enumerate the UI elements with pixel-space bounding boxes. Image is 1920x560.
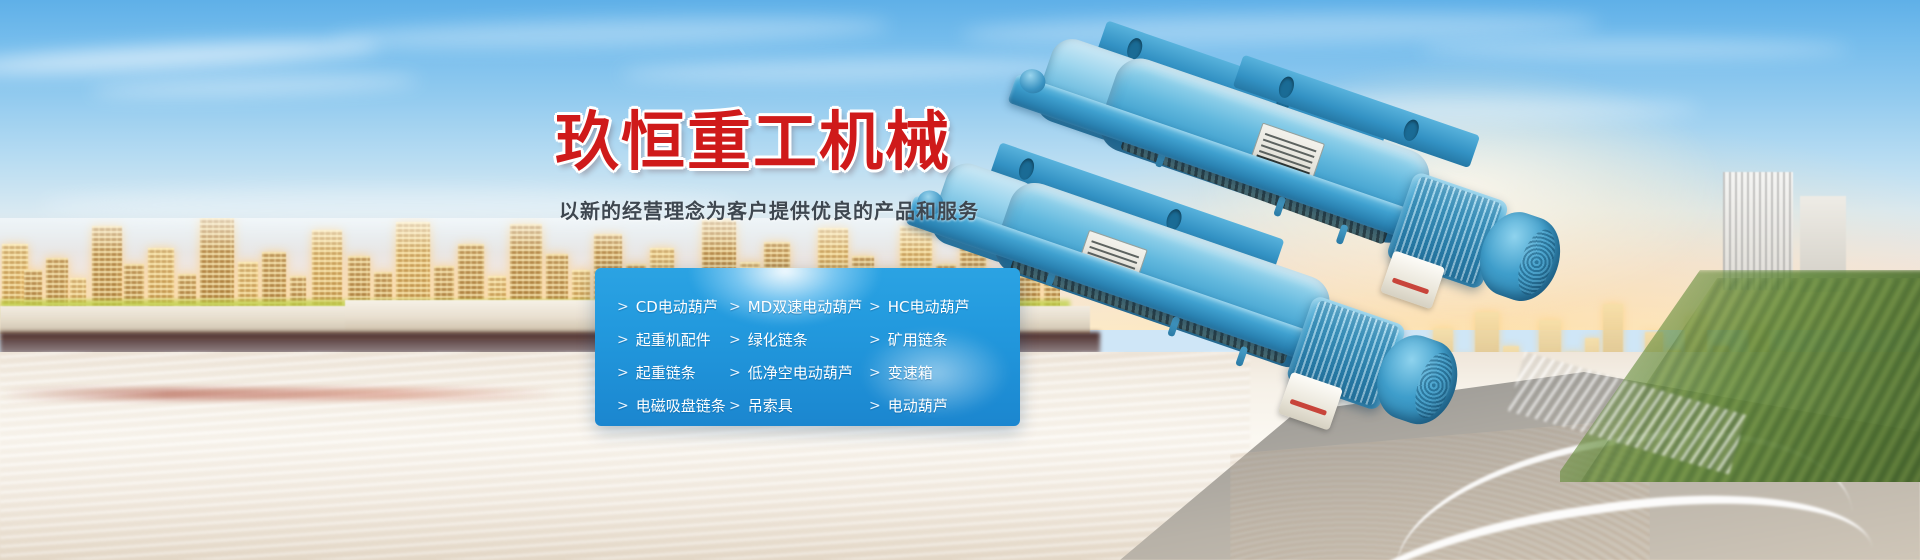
page-title: 玖恒重工机械 [555,110,1075,177]
promo-banner: 玖恒重工机械 以新的经营理念为客户提供优良的产品和服务 >CD电动葫芦>MD双速… [0,0,1920,560]
chevron-right-icon: > [729,299,741,315]
chevron-right-icon: > [729,398,741,414]
product-category-link[interactable]: >矿用链条 [869,323,1020,356]
chevron-right-icon: > [617,365,629,381]
product-category-label: 绿化链条 [748,329,808,350]
headline-block: 玖恒重工机械 以新的经营理念为客户提供优良的产品和服务 [555,110,1075,224]
product-category-link[interactable]: >MD双速电动葫芦 [729,290,869,323]
chevron-right-icon: > [869,398,881,414]
product-category-label: 电磁吸盘链条 [636,395,726,416]
product-category-link[interactable]: >CD电动葫芦 [617,290,729,323]
product-category-link[interactable]: >电动葫芦 [869,389,1020,422]
product-category-link[interactable]: >HC电动葫芦 [869,290,1020,323]
product-category-link[interactable]: >变速箱 [869,356,1020,389]
chevron-right-icon: > [617,398,629,414]
product-category-link[interactable]: >起重链条 [617,356,729,389]
chevron-right-icon: > [869,365,881,381]
product-category-link[interactable]: >吊索具 [729,389,869,422]
product-category-label: 变速箱 [888,362,933,383]
chevron-right-icon: > [617,299,629,315]
product-category-label: 吊索具 [748,395,793,416]
product-category-link[interactable]: >绿化链条 [729,323,869,356]
product-category-label: 起重链条 [636,362,696,383]
product-category-link[interactable]: >电磁吸盘链条 [617,389,729,422]
chevron-right-icon: > [729,365,741,381]
chevron-right-icon: > [617,332,629,348]
product-category-label: MD双速电动葫芦 [748,296,863,317]
chevron-right-icon: > [729,332,741,348]
product-category-label: 低净空电动葫芦 [748,362,853,383]
chevron-right-icon: > [869,332,881,348]
chevron-right-icon: > [869,299,881,315]
product-category-link[interactable]: >低净空电动葫芦 [729,356,869,389]
product-category-label: 矿用链条 [888,329,948,350]
product-category-link[interactable]: >起重机配件 [617,323,729,356]
product-category-label: 起重机配件 [636,329,711,350]
product-category-list: >CD电动葫芦>MD双速电动葫芦>HC电动葫芦>起重机配件>绿化链条>矿用链条>… [595,268,1020,426]
product-category-label: HC电动葫芦 [888,296,970,317]
product-category-label: CD电动葫芦 [636,296,718,317]
product-category-panel: >CD电动葫芦>MD双速电动葫芦>HC电动葫芦>起重机配件>绿化链条>矿用链条>… [595,268,1020,426]
page-subtitle: 以新的经营理念为客户提供优良的产品和服务 [559,195,1075,224]
product-category-label: 电动葫芦 [888,395,948,416]
